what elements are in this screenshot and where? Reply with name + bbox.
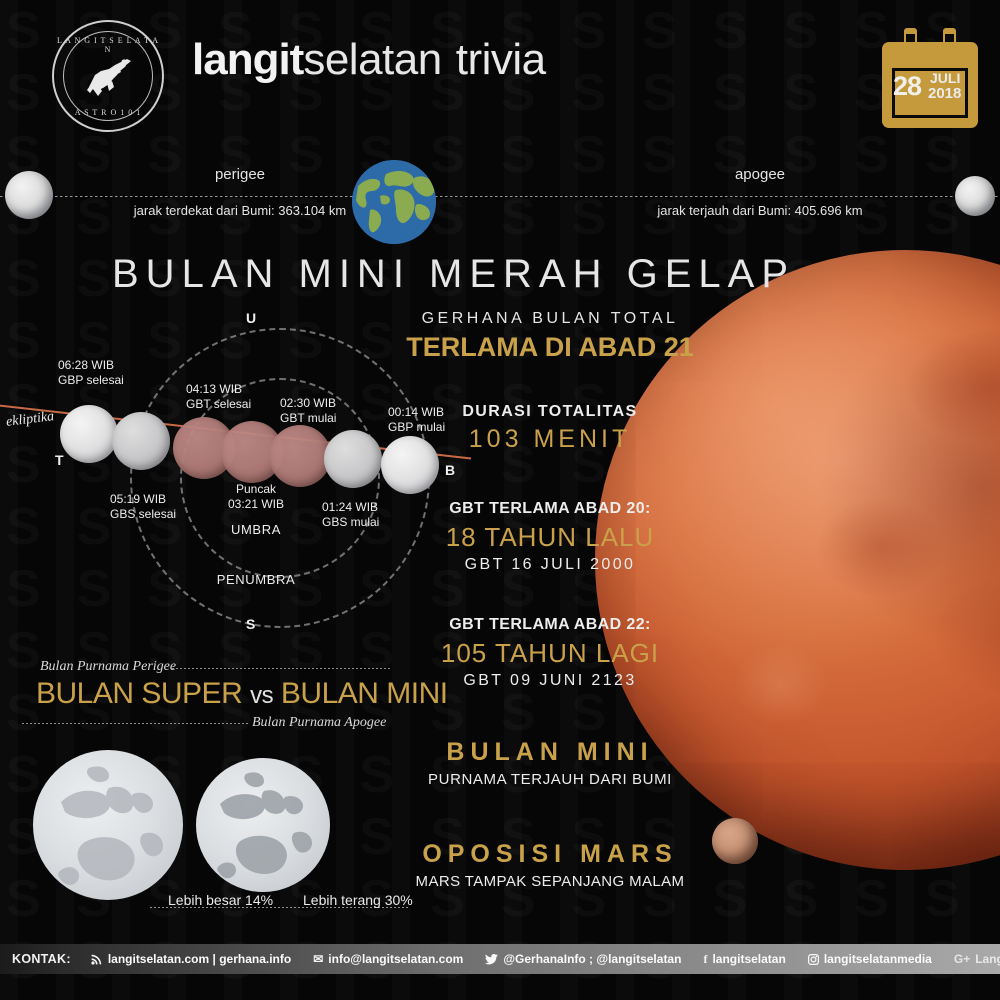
facebook-icon: f: [703, 952, 707, 967]
eclipse-peak-time: 03:21 WIB: [196, 497, 316, 512]
mini-moon-graphic: [196, 758, 330, 892]
contact-item-facebook[interactable]: f langitselatan: [703, 952, 807, 967]
eclipse-moon-5: [269, 425, 331, 487]
contact-text-instagram: langitselatanmedia: [824, 952, 932, 966]
perigee-label-group: perigee jarak terdekat dari Bumi: 363.10…: [90, 166, 390, 218]
apogee-detail: jarak terjauh dari Bumi: 405.696 km: [600, 203, 920, 218]
moon-icon-perigee: [5, 171, 53, 219]
contact-label: KONTAK:: [0, 952, 91, 966]
compare-top-dots: [172, 668, 390, 669]
super-moon-graphic: [33, 750, 183, 900]
perigee-label: perigee: [90, 166, 390, 183]
eclipse-event-1-name: GBP selesai: [58, 373, 124, 388]
mars-block: OPOSISI MARS MARS TAMPAK SEPANJANG MALAM: [400, 840, 700, 890]
eclipse-peak: Puncak 03:21 WIB: [196, 482, 316, 512]
page-title: BULAN MINI MERAH GELAP: [112, 252, 795, 297]
eclipse-event-4-time: 02:30 WIB: [280, 396, 336, 411]
eclipse-event-5: 01:24 WIB GBS mulai: [322, 500, 379, 530]
contact-item-twitter[interactable]: @GerhanaInfo ; @langitselatan: [485, 952, 703, 966]
compare-caption-size: Lebih besar 14%: [168, 892, 273, 908]
eclipse-event-2-time: 05:19 WIB: [110, 492, 176, 507]
eclipse-event-1-time: 06:28 WIB: [58, 358, 124, 373]
axis-label-timur: T: [55, 452, 64, 468]
calendar-day: 28: [893, 73, 921, 100]
eclipse-event-3-name: GBT selesai: [186, 397, 251, 412]
contact-item-instagram[interactable]: langitselatanmedia: [808, 952, 954, 966]
eclipse-event-5-name: GBS mulai: [322, 515, 379, 530]
facts-column: GERHANA BULAN TOTAL TERLAMA DI ABAD 21 D…: [400, 310, 700, 890]
compare-heading-vs: vs: [250, 682, 273, 709]
envelope-icon: ✉: [313, 952, 323, 966]
eclipse-moon-1: [60, 405, 118, 463]
calendar-month: JULI: [930, 71, 960, 85]
moon-comparison-section: Bulan Purnama Perigee BULAN SUPER vs BUL…: [0, 655, 420, 925]
rss-icon: [91, 953, 103, 965]
axis-label-utara: U: [246, 310, 256, 326]
brand-title: langitselatantrivia: [192, 34, 546, 86]
compare-heading: BULAN SUPER vs BULAN MINI: [36, 677, 448, 711]
century20-value: 18 TAHUN LALU: [400, 522, 700, 553]
ecliptic-label: ekliptika: [5, 409, 55, 430]
eclipse-event-3: 04:13 WIB GBT selesai: [186, 382, 251, 412]
compare-bottom-dots: [22, 723, 250, 724]
calendar-icon: 28 JULI 2018: [882, 28, 978, 128]
duration-label: DURASI TOTALITAS: [400, 403, 700, 421]
eclipse-event-2: 05:19 WIB GBS selesai: [110, 492, 176, 522]
brand-part-langit: langit: [192, 35, 303, 84]
twitter-icon: [485, 954, 498, 965]
contact-item-email[interactable]: ✉ info@langitselatan.com: [313, 952, 485, 966]
eclipse-event-5-time: 01:24 WIB: [322, 500, 379, 515]
contact-text-googleplus: LangitselatanMedia: [975, 952, 1000, 966]
century22-label: GBT TERLAMA ABAD 22:: [400, 616, 700, 634]
minimoon-block: BULAN MINI PURNAMA TERJAUH DARI BUMI: [400, 738, 700, 788]
brand-part-trivia: trivia: [456, 35, 546, 84]
minimoon-title: BULAN MINI: [400, 738, 700, 767]
eclipse-moon-2: [112, 412, 170, 470]
horse-rider-icon: [79, 53, 137, 99]
compare-top-note: Bulan Purnama Perigee: [40, 659, 176, 675]
minimoon-subtitle: PURNAMA TERJAUH DARI BUMI: [400, 771, 700, 788]
century20-block: GBT TERLAMA ABAD 20: 18 TAHUN LALU GBT 1…: [400, 500, 700, 574]
century22-block: GBT TERLAMA ABAD 22: 105 TAHUN LAGI GBT …: [400, 616, 700, 690]
mars-subtitle: MARS TAMPAK SEPANJANG MALAM: [400, 873, 700, 890]
eclipse-event-4-name: GBT mulai: [280, 411, 336, 426]
logo-badge: L A N G I T S E L A T A N A S T R O 1 0 …: [52, 20, 164, 132]
contact-text-email: info@langitselatan.com: [328, 952, 463, 966]
contact-text-rss: langitselatan.com | gerhana.info: [108, 952, 291, 966]
century20-date: GBT 16 JULI 2000: [400, 556, 700, 574]
logo-bottom-text: A S T R O 1 0 1: [54, 108, 162, 117]
facts-kicker: GERHANA BULAN TOTAL: [400, 310, 700, 328]
contact-text-twitter: @GerhanaInfo ; @langitselatan: [503, 952, 681, 966]
facts-headline: TERLAMA DI ABAD 21: [400, 332, 700, 363]
brand-part-selatan: selatan: [303, 35, 441, 84]
googleplus-icon: G+: [954, 952, 970, 966]
apogee-label: apogee: [600, 166, 920, 183]
contact-text-facebook: langitselatan: [712, 952, 785, 966]
century20-label: GBT TERLAMA ABAD 20:: [400, 500, 700, 518]
umbra-label: UMBRA: [196, 522, 316, 537]
apogee-label-group: apogee jarak terjauh dari Bumi: 405.696 …: [600, 166, 920, 218]
eclipse-event-4: 02:30 WIB GBT mulai: [280, 396, 336, 426]
contact-item-googleplus[interactable]: G+ LangitselatanMedia: [954, 952, 1000, 966]
mars-image: [712, 818, 758, 864]
perigee-detail: jarak terdekat dari Bumi: 363.104 km: [90, 203, 390, 218]
logo-top-text: L A N G I T S E L A T A N: [54, 36, 162, 54]
century22-value: 105 TAHUN LAGI: [400, 638, 700, 669]
infographic-canvas: SSSSSSSSSSSSSSSSSSSSSSSSSSSSSSSSSSSSSSSS…: [0, 0, 1000, 1000]
eclipse-event-3-time: 04:13 WIB: [186, 382, 251, 397]
duration-block: DURASI TOTALITAS 103 MENIT: [400, 403, 700, 454]
instagram-icon: [808, 954, 819, 965]
calendar-body: 28 JULI 2018: [882, 42, 978, 128]
mars-title: OPOSISI MARS: [400, 840, 700, 869]
calendar-year: 2018: [928, 86, 961, 101]
moon-icon-apogee: [955, 176, 995, 216]
contact-footer: KONTAK: langitselatan.com | gerhana.info…: [0, 944, 1000, 974]
compare-bottom-note: Bulan Purnama Apogee: [252, 715, 386, 731]
contact-item-rss[interactable]: langitselatan.com | gerhana.info: [91, 952, 313, 966]
eclipse-event-2-name: GBS selesai: [110, 507, 176, 522]
penumbra-label: PENUMBRA: [176, 572, 336, 587]
axis-label-selatan: S: [246, 616, 255, 632]
eclipse-peak-label: Puncak: [196, 482, 316, 497]
compare-heading-left: BULAN SUPER: [36, 677, 242, 710]
duration-value: 103 MENIT: [400, 425, 700, 454]
eclipse-event-1: 06:28 WIB GBP selesai: [58, 358, 124, 388]
compare-caption-brightness: Lebih terang 30%: [303, 892, 413, 908]
century22-date: GBT 09 JUNI 2123: [400, 672, 700, 690]
header: L A N G I T S E L A T A N A S T R O 1 0 …: [0, 0, 1000, 152]
eclipse-moon-6: [324, 430, 382, 488]
